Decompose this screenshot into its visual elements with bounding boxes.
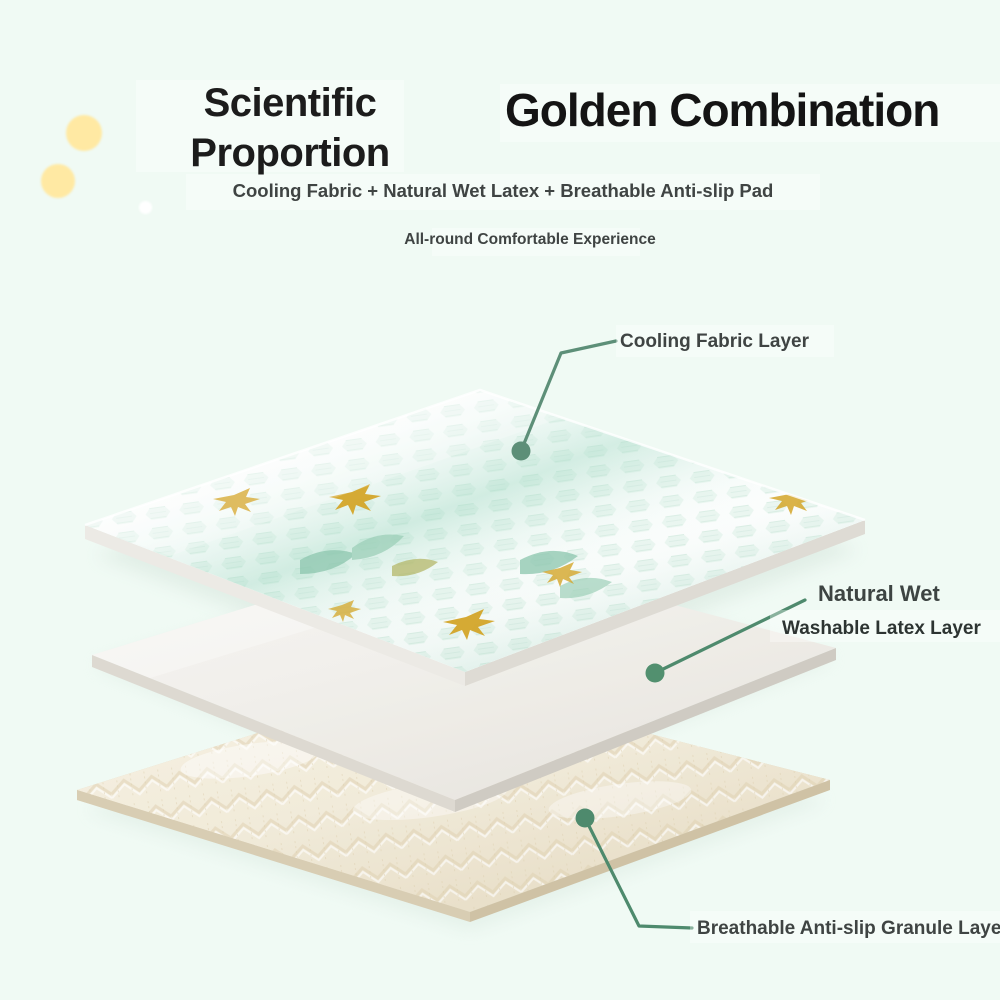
anchor-dot-cooling-fabric [512,442,531,461]
page-title-right: Golden Combination [505,82,939,138]
subtitle-composition: Cooling Fabric + Natural Wet Latex + Bre… [188,180,818,202]
infographic-canvas: Scientific Proportion Golden Combination… [0,0,1000,1000]
subtitle-experience: All-round Comfortable Experience [300,231,760,249]
callout-label-cooling-fabric: Cooling Fabric Layer [620,331,809,353]
anchor-dot-latex [646,664,665,683]
callout-label-latex-line2: Washable Latex Layer [782,618,981,640]
callout-label-granule: Breathable Anti-slip Granule Layer [697,918,1000,940]
leader-cooling-fabric [512,341,617,461]
anchor-dot-granule [576,809,595,828]
leader-granule [576,809,693,929]
callout-label-latex-line1: Natural Wet [818,581,940,607]
page-title-left: Scientific Proportion [140,78,440,178]
